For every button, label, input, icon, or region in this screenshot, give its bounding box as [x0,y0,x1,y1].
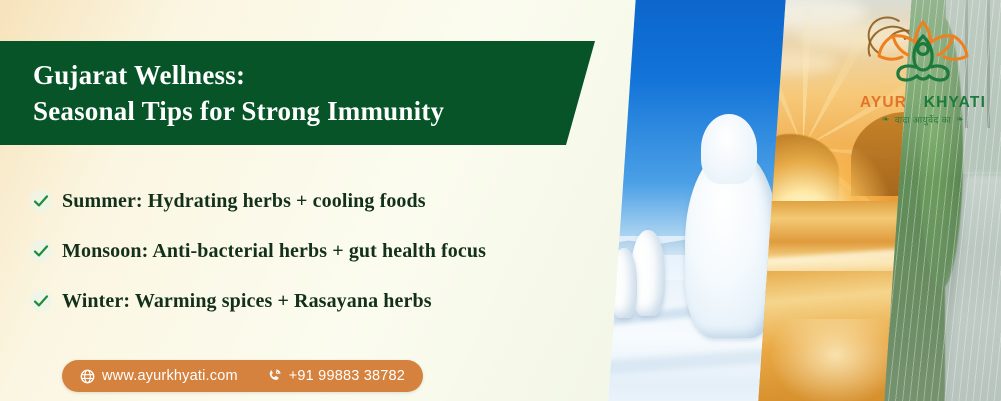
phone-label: +91 99883 38782 [289,368,405,384]
list-item: Summer: Hydrating herbs + cooling foods [30,176,590,226]
logo-tagline: वादा आयुर्वेद का [895,113,952,126]
title-band: Gujarat Wellness: Seasonal Tips for Stro… [0,41,595,145]
logo-tagline-row: ❧ वादा आयुर्वेद का ❧ [857,113,989,126]
logo-word-second: KHYATI [924,94,986,111]
sand-reflection [767,319,904,401]
list-item-label: Monsoon: Anti-bacterial herbs + gut heal… [62,240,486,263]
contact-bar: www.ayurkhyati.com +91 99883 38782 [62,360,423,392]
check-icon [30,240,52,262]
snow-tree-small [611,248,637,318]
website-label: www.ayurkhyati.com [102,368,238,384]
promo-banner: Gujarat Wellness: Seasonal Tips for Stro… [0,0,1001,401]
list-item-label: Winter: Warming spices + Rasayana herbs [62,290,432,313]
list-item: Monsoon: Anti-bacterial herbs + gut heal… [30,226,590,276]
brand-logo: AYUR KHYATI ❧ वादा आयुर्वेद का ❧ [857,18,989,126]
page-title-line-1: Gujarat Wellness: [33,57,595,93]
page-title-line-2: Seasonal Tips for Strong Immunity [33,93,595,129]
phone-icon [266,368,282,384]
logo-wordmark: AYUR KHYATI [857,94,989,112]
list-item-label: Summer: Hydrating herbs + cooling foods [62,190,426,213]
check-icon [30,290,52,312]
check-icon [30,190,52,212]
phone-link[interactable]: +91 99883 38782 [266,368,405,384]
leaf-ornament-icon: ❧ [956,114,964,125]
leaf-ornament-icon: ❧ [882,114,890,125]
website-link[interactable]: www.ayurkhyati.com [80,368,238,384]
seasonal-tips-list: Summer: Hydrating herbs + cooling foods … [30,176,590,326]
list-item: Winter: Warming spices + Rasayana herbs [30,276,590,326]
globe-icon [80,369,95,384]
logo-word-first: AYUR [860,94,907,111]
lotus-yoga-icon [857,18,989,92]
